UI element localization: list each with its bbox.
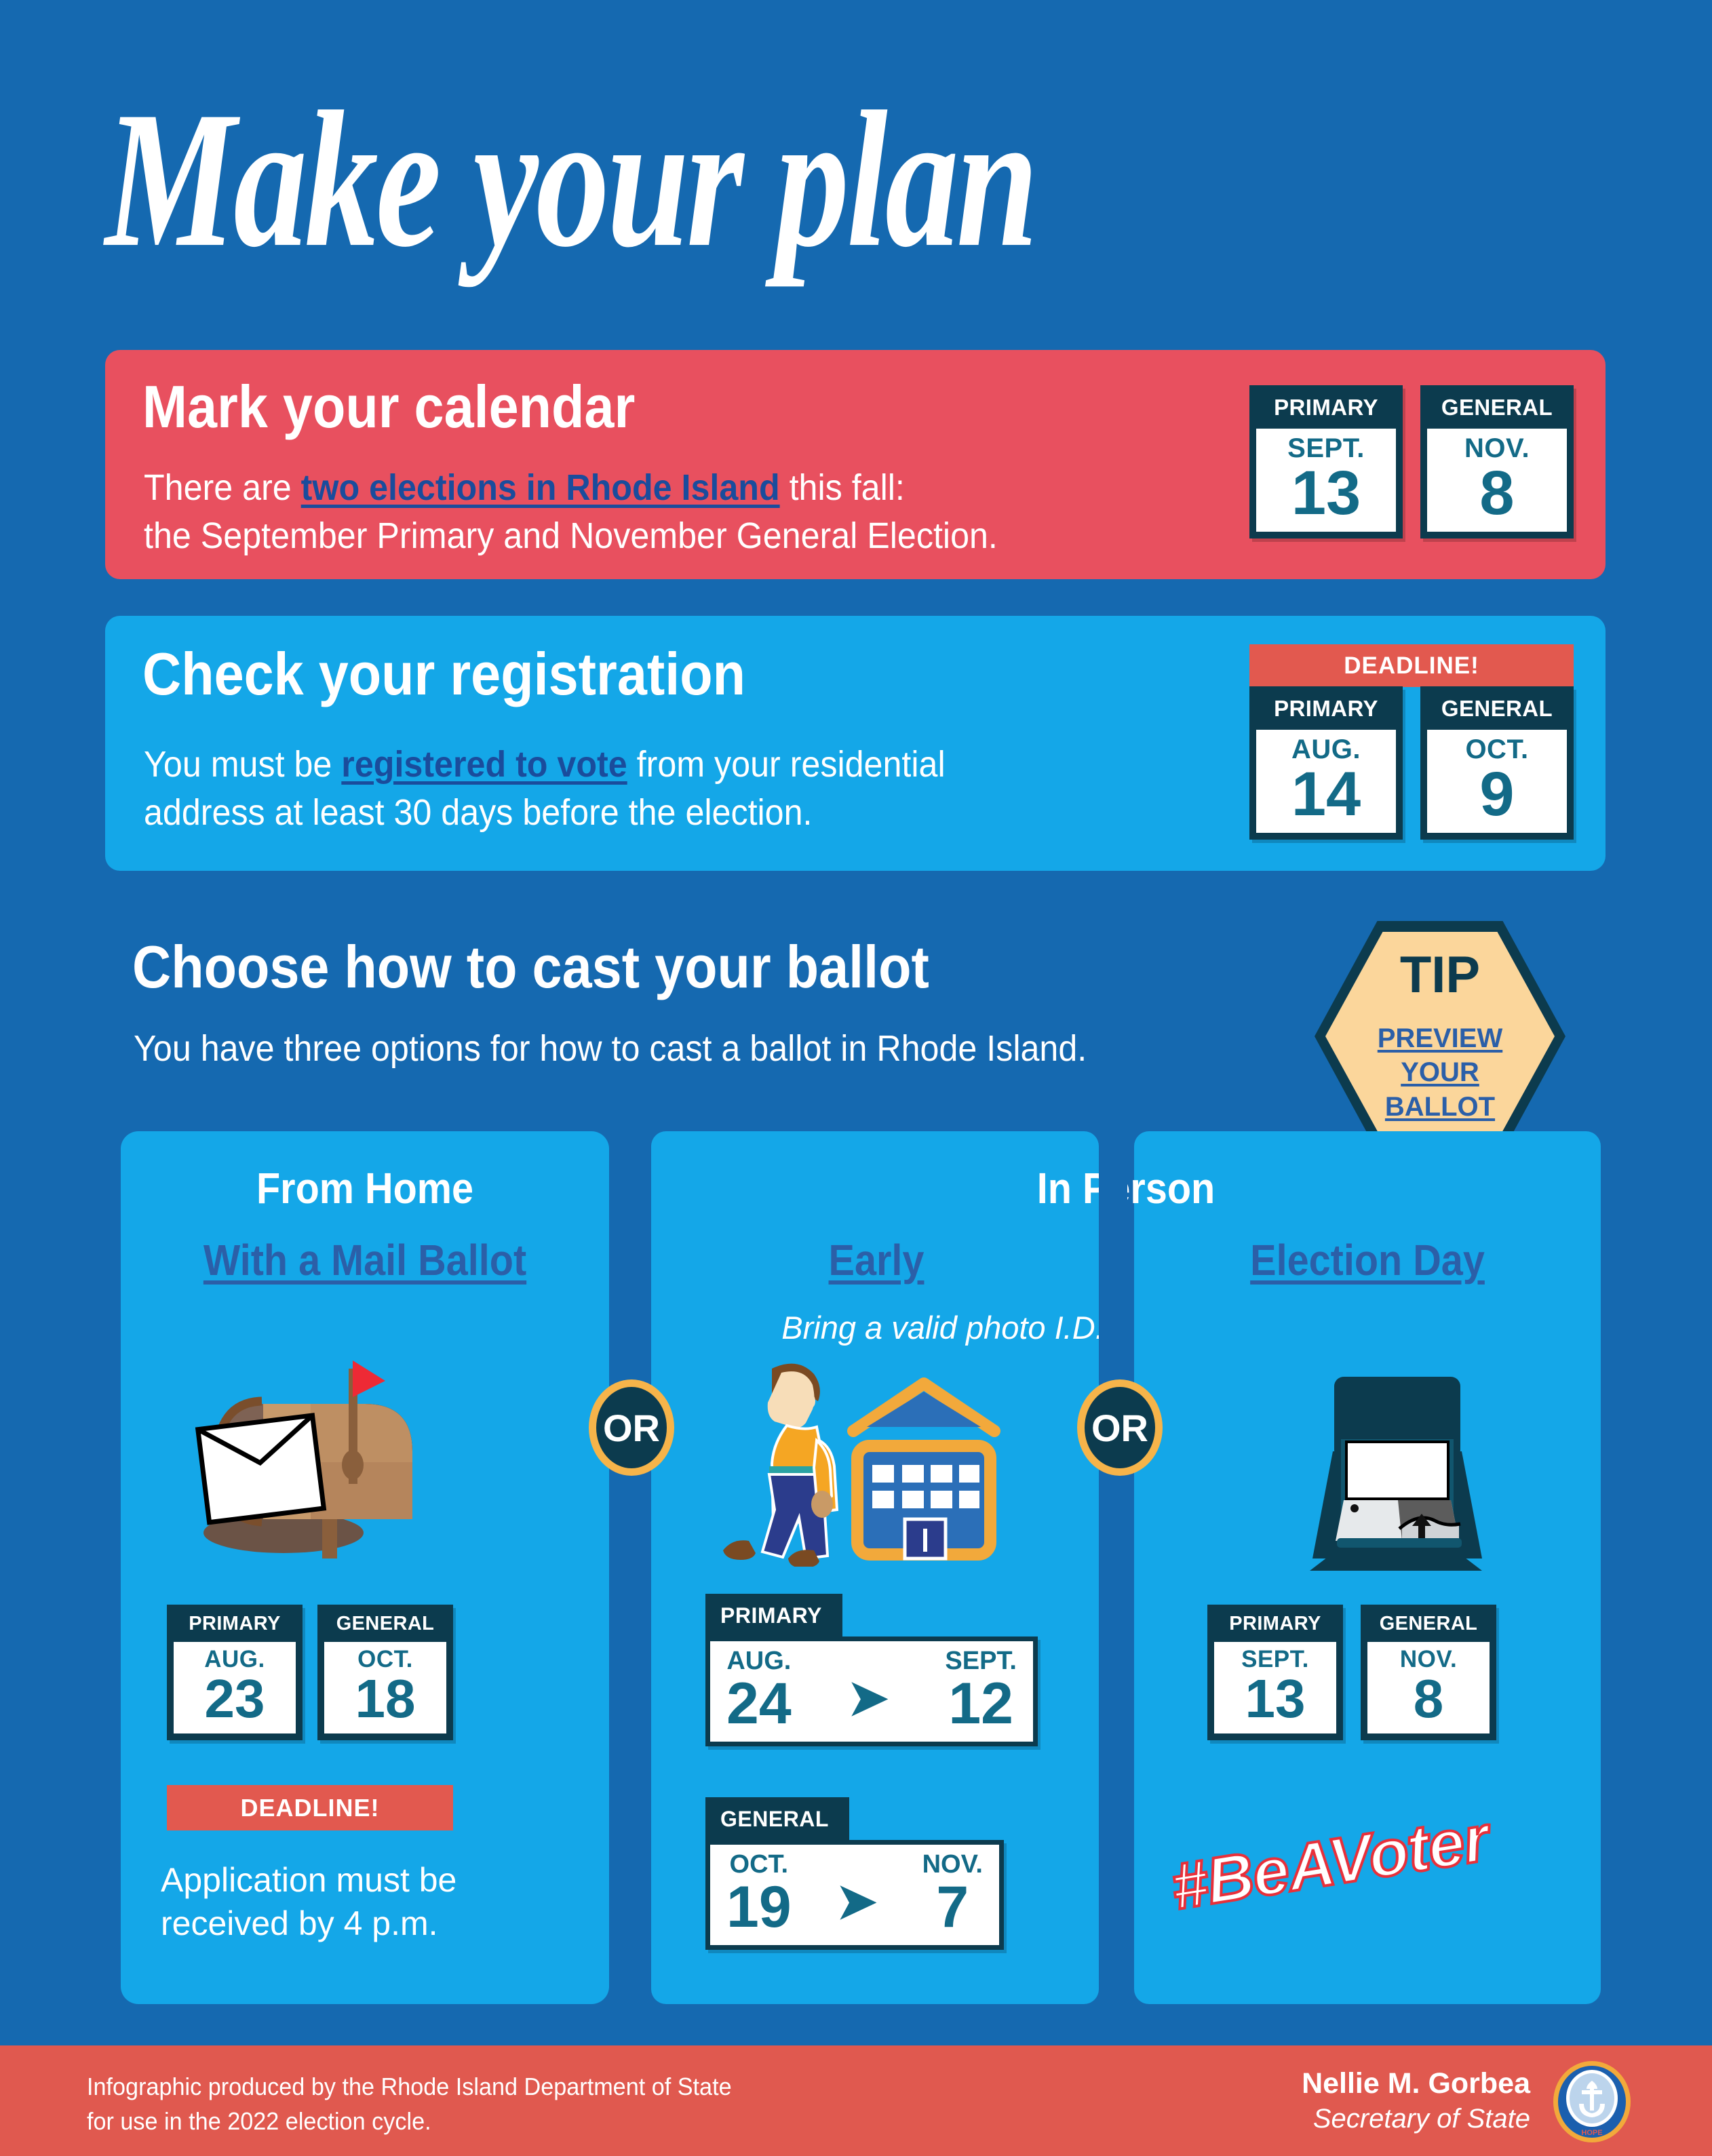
body-text-post: from your residential [627, 744, 946, 785]
footer-official-role: Secretary of State [1313, 2104, 1530, 2134]
calendar-group-election-dates: PRIMARY SEPT. 13 GENERAL NOV. 8 [1249, 385, 1574, 538]
calendar-card-primary: PRIMARY AUG. 14 [1249, 686, 1403, 840]
range-label: GENERAL [705, 1797, 849, 1840]
body-text-pre: You must be [144, 744, 341, 785]
ballot-scanner-icon [1279, 1371, 1509, 1575]
range-from-day: 24 [726, 1675, 792, 1732]
range-to: NOV. 7 [922, 1851, 983, 1936]
calendar-card-general: GENERAL OCT. 18 [317, 1605, 453, 1740]
body-text-line2: address at least 30 days before the elec… [144, 792, 812, 833]
calendar-group-election-day: PRIMARY SEPT. 13 GENERAL NOV. 8 [1207, 1605, 1496, 1740]
infographic-page: Make your plan Mark your calendar There … [0, 0, 1712, 2156]
calendar-day: 8 [1427, 463, 1567, 524]
note-bring-photo-id: Bring a valid photo I.D. [781, 1309, 1104, 1346]
tip-link-line-2: YOUR [1315, 1055, 1565, 1089]
link-election-day[interactable]: Election Day [1250, 1238, 1485, 1282]
footer: Infographic produced by the Rhode Island… [0, 2045, 1712, 2156]
deadline-banner-mail-ballot: DEADLINE! [167, 1785, 453, 1830]
svg-text:HOPE: HOPE [1581, 2129, 1602, 2137]
tip-link-line-1: PREVIEW [1315, 1021, 1565, 1055]
range-card-primary-early: PRIMARY AUG. 24 ➤ SEPT. 12 [705, 1594, 1038, 1746]
panel-divider [1099, 1131, 1127, 2004]
calendar-card-general: GENERAL OCT. 9 [1420, 686, 1574, 840]
calendar-label: GENERAL [1420, 686, 1574, 730]
tip-link-line-3: BALLOT [1315, 1090, 1565, 1124]
note-line-1: Application must be [161, 1858, 456, 1902]
calendar-group-registration-deadline: PRIMARY AUG. 14 GENERAL OCT. 9 [1249, 686, 1574, 840]
body-text-pre: There are [144, 467, 301, 508]
note-mail-application: Application must be received by 4 p.m. [161, 1858, 456, 1945]
range-to-day: 7 [922, 1879, 983, 1936]
link-early-voting[interactable]: Early [829, 1238, 925, 1282]
footer-credit-line-2: for use in the 2022 election cycle. [87, 2104, 732, 2138]
body-text-post: this fall: [780, 467, 905, 508]
section-heading-choose-ballot: Choose how to cast your ballot [132, 937, 929, 997]
calendar-label: PRIMARY [1249, 686, 1403, 730]
link-registered-to-vote[interactable]: registered to vote [341, 744, 627, 785]
tip-label: TIP [1315, 949, 1565, 1001]
calendar-label: PRIMARY [167, 1605, 303, 1642]
or-badge-1: OR [589, 1379, 674, 1476]
calendar-day: 23 [174, 1672, 296, 1725]
rhode-island-state-seal-icon: HOPE [1552, 2060, 1632, 2143]
footer-credit: Infographic produced by the Rhode Island… [87, 2069, 732, 2138]
tip-hexagon[interactable]: TIP PREVIEW YOUR BALLOT [1315, 921, 1565, 1152]
deadline-banner-registration: DEADLINE! [1249, 644, 1574, 687]
range-arrow-icon: ➤ [848, 1674, 889, 1732]
calendar-label: PRIMARY [1249, 385, 1403, 429]
mailbox-icon [182, 1341, 467, 1559]
calendar-label: PRIMARY [1207, 1605, 1343, 1642]
range-to: SEPT. 12 [945, 1648, 1017, 1732]
calendar-label: GENERAL [317, 1605, 453, 1642]
calendar-group-mail-ballot: PRIMARY AUG. 23 GENERAL OCT. 18 [167, 1605, 453, 1740]
range-from: AUG. 24 [726, 1648, 792, 1732]
calendar-day: 8 [1367, 1672, 1490, 1725]
section-heading-mark-calendar: Mark your calendar [142, 377, 635, 437]
calendar-card-general: GENERAL NOV. 8 [1361, 1605, 1496, 1740]
range-from-day: 19 [726, 1879, 792, 1936]
calendar-day: 14 [1256, 764, 1396, 825]
tip-preview-ballot-link[interactable]: PREVIEW YOUR BALLOT [1315, 1021, 1565, 1124]
link-two-elections[interactable]: two elections in Rhode Island [301, 467, 780, 508]
range-to-day: 12 [945, 1675, 1017, 1732]
calendar-day: 13 [1256, 463, 1396, 524]
calendar-card-primary: PRIMARY SEPT. 13 [1207, 1605, 1343, 1740]
calendar-day: 18 [324, 1672, 446, 1725]
panel-heading-from-home: From Home [256, 1167, 473, 1210]
range-card-general-early: GENERAL OCT. 19 ➤ NOV. 7 [705, 1797, 1004, 1950]
range-from: OCT. 19 [726, 1851, 792, 1936]
calendar-card-general: GENERAL NOV. 8 [1420, 385, 1574, 538]
calendar-card-primary: PRIMARY AUG. 23 [167, 1605, 303, 1740]
calendar-label: GENERAL [1420, 385, 1574, 429]
body-text-line2: the September Primary and November Gener… [144, 515, 998, 556]
range-arrow-icon: ➤ [836, 1877, 877, 1936]
calendar-card-primary: PRIMARY SEPT. 13 [1249, 385, 1403, 538]
note-line-2: received by 4 p.m. [161, 1902, 456, 1945]
calendar-day: 13 [1214, 1672, 1336, 1725]
section-heading-check-registration: Check your registration [142, 644, 745, 704]
or-badge-2: OR [1077, 1379, 1163, 1476]
calendar-label: GENERAL [1361, 1605, 1496, 1642]
person-walking-to-building-icon [719, 1350, 1011, 1567]
range-label: PRIMARY [705, 1594, 842, 1636]
section-subheading-choose-ballot: You have three options for how to cast a… [134, 1027, 1087, 1071]
footer-official-name: Nellie M. Gorbea [1302, 2067, 1530, 2100]
footer-credit-line-1: Infographic produced by the Rhode Island… [87, 2069, 732, 2104]
link-with-a-mail-ballot[interactable]: With a Mail Ballot [203, 1238, 526, 1282]
section-body-check-registration: You must be registered to vote from your… [144, 741, 946, 838]
section-body-mark-calendar: There are two elections in Rhode Island … [144, 464, 998, 561]
calendar-day: 9 [1427, 764, 1567, 825]
page-title: Make your plan [105, 83, 1036, 278]
